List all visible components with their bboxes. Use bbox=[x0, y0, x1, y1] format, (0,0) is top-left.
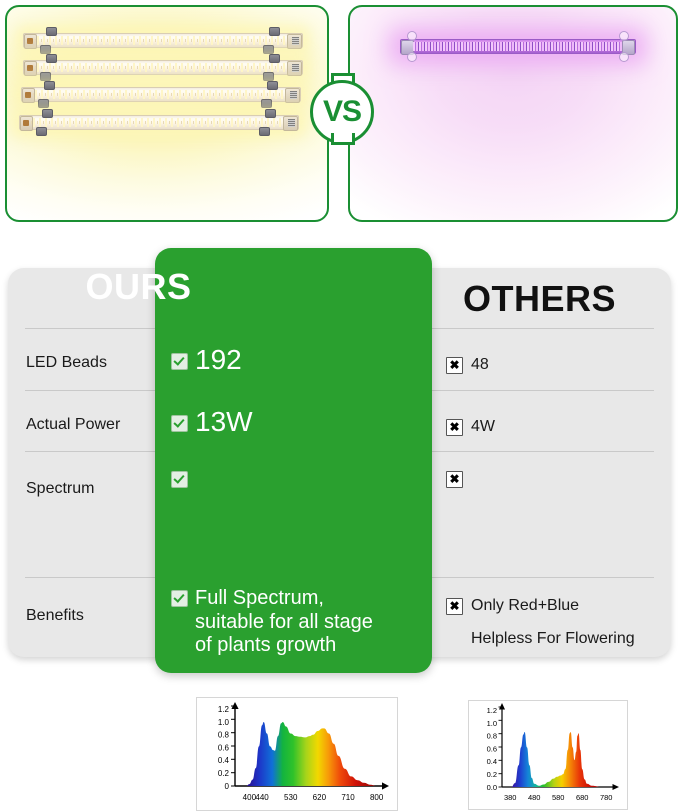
mounting-bracket bbox=[265, 109, 276, 118]
strip-end-cap-right bbox=[285, 88, 300, 103]
led-strip bbox=[21, 87, 301, 102]
svg-text:0.4: 0.4 bbox=[218, 756, 230, 765]
spectrum-chart-ours: 00.20.40.60.81.01.2 400440530620710800 bbox=[196, 697, 398, 811]
mounting-bracket bbox=[263, 72, 274, 81]
svg-text:530: 530 bbox=[284, 793, 298, 802]
mounting-bracket bbox=[44, 81, 55, 90]
svg-text:800: 800 bbox=[370, 793, 384, 802]
row-separator bbox=[432, 390, 654, 391]
led-strip bbox=[19, 115, 299, 130]
svg-text:780: 780 bbox=[600, 793, 613, 802]
strip-end-cap-right bbox=[287, 61, 302, 76]
check-icon bbox=[171, 415, 188, 432]
row-label-actual-power: Actual Power bbox=[26, 416, 120, 434]
product-comparison-hero: VS bbox=[0, 0, 679, 228]
mounting-bracket bbox=[261, 99, 272, 108]
led-strip bbox=[23, 60, 303, 75]
others-benefit-line-1: Only Red+Blue bbox=[471, 594, 635, 619]
mounting-bracket bbox=[42, 109, 53, 118]
mounting-bracket bbox=[46, 54, 57, 63]
ours-value-led-beads: 192 bbox=[171, 346, 242, 375]
row-label-benefits: Benefits bbox=[26, 607, 84, 625]
mounting-bracket bbox=[259, 127, 270, 136]
svg-text:0.2: 0.2 bbox=[218, 769, 230, 778]
spectrum-chart-ours-svg: 00.20.40.60.81.01.2 400440530620710800 bbox=[197, 698, 397, 810]
svg-text:1.0: 1.0 bbox=[487, 719, 497, 728]
row-separator bbox=[25, 328, 155, 329]
warm-white-led-panel bbox=[5, 5, 329, 222]
spectrum-chart-others: 0.00.20.40.60.81.01.2 380480580680780 bbox=[468, 700, 628, 810]
row-label-led-beads: LED Beads bbox=[26, 354, 107, 372]
ours-value-actual-power: 13W bbox=[171, 408, 253, 437]
mounting-bracket bbox=[269, 27, 280, 36]
x-icon: ✖ bbox=[446, 357, 463, 374]
row-separator bbox=[432, 577, 654, 578]
svg-text:1.2: 1.2 bbox=[218, 705, 230, 714]
ours-benefit-line-2: suitable for all stage bbox=[195, 611, 373, 635]
x-icon: ✖ bbox=[446, 419, 463, 436]
led-beads-row bbox=[31, 118, 285, 127]
svg-text:1.0: 1.0 bbox=[218, 718, 230, 727]
ours-value-text: 13W bbox=[195, 408, 253, 437]
mounting-bracket bbox=[619, 31, 629, 41]
row-separator bbox=[432, 328, 654, 329]
spectrum-curve bbox=[511, 732, 608, 787]
led-beads-row bbox=[35, 36, 289, 45]
mounting-bracket bbox=[619, 52, 629, 62]
x-icon: ✖ bbox=[446, 471, 463, 488]
chart-y-tick-labels: 0.00.20.40.60.81.01.2 bbox=[487, 706, 497, 792]
row-separator bbox=[432, 451, 654, 452]
vs-badge-tab-bottom bbox=[331, 133, 355, 145]
chart-x-tick-labels: 380480580680780 bbox=[504, 793, 613, 802]
svg-text:0.6: 0.6 bbox=[218, 743, 230, 752]
mounting-bracket bbox=[40, 72, 51, 81]
row-separator bbox=[25, 390, 155, 391]
svg-text:0.8: 0.8 bbox=[218, 731, 230, 740]
mounting-bracket bbox=[267, 81, 278, 90]
strip-end-cap-right bbox=[287, 34, 302, 49]
ours-value-benefits: Full Spectrum, suitable for all stage of… bbox=[171, 587, 373, 658]
mounting-bracket bbox=[38, 99, 49, 108]
others-value-led-beads: ✖ 48 bbox=[446, 353, 489, 378]
others-value-benefits: ✖ Only Red+Blue Helpless For Flowering bbox=[446, 594, 635, 652]
mounting-bracket bbox=[46, 27, 57, 36]
check-icon bbox=[171, 353, 188, 370]
x-icon: ✖ bbox=[446, 598, 463, 615]
column-header-others: OTHERS bbox=[463, 278, 679, 320]
strip-end-cap-right bbox=[283, 116, 298, 131]
mounting-bracket bbox=[40, 45, 51, 54]
svg-text:0.0: 0.0 bbox=[487, 783, 497, 792]
chart-y-tick-labels: 00.20.40.60.81.01.2 bbox=[218, 705, 230, 791]
check-icon bbox=[171, 471, 188, 488]
led-strip bbox=[23, 33, 303, 48]
svg-text:0.4: 0.4 bbox=[487, 757, 497, 766]
ours-benefit-line-3: of plants growth bbox=[195, 634, 373, 658]
mounting-bracket bbox=[269, 54, 280, 63]
row-separator bbox=[25, 451, 155, 452]
led-beads-row bbox=[35, 63, 289, 72]
check-icon bbox=[171, 590, 188, 607]
spectrum-curve bbox=[246, 722, 376, 786]
spectrum-chart-others-svg: 0.00.20.40.60.81.01.2 380480580680780 bbox=[469, 701, 627, 809]
ours-value-spectrum-mark bbox=[171, 464, 195, 488]
row-separator bbox=[25, 577, 155, 578]
svg-text:620: 620 bbox=[313, 793, 327, 802]
comparison-table: OURS OTHERS LED Beads 192 ✖ 48 Actual Po… bbox=[0, 236, 679, 690]
led-strip-purple bbox=[400, 39, 636, 54]
ours-benefit-line-1: Full Spectrum, bbox=[195, 587, 373, 611]
svg-text:0.8: 0.8 bbox=[487, 732, 497, 741]
led-beads-row-purple bbox=[413, 42, 623, 51]
svg-text:480: 480 bbox=[528, 793, 541, 802]
vs-badge: VS bbox=[310, 80, 372, 142]
others-value-text: 4W bbox=[471, 415, 495, 440]
svg-text:710: 710 bbox=[341, 793, 355, 802]
svg-text:380: 380 bbox=[504, 793, 517, 802]
svg-text:680: 680 bbox=[576, 793, 589, 802]
others-value-actual-power: ✖ 4W bbox=[446, 415, 495, 440]
purple-led-panel bbox=[348, 5, 678, 222]
ours-value-text: 192 bbox=[195, 346, 242, 375]
others-value-spectrum-mark: ✖ bbox=[446, 467, 471, 488]
mounting-bracket bbox=[36, 127, 47, 136]
chart-x-tick-labels: 400440530620710800 bbox=[243, 793, 384, 802]
svg-text:580: 580 bbox=[552, 793, 565, 802]
svg-text:440: 440 bbox=[255, 793, 269, 802]
others-benefit-line-2: Helpless For Flowering bbox=[471, 627, 635, 652]
svg-text:0.2: 0.2 bbox=[487, 770, 497, 779]
mounting-bracket bbox=[263, 45, 274, 54]
svg-text:1.2: 1.2 bbox=[487, 706, 497, 715]
svg-text:0: 0 bbox=[225, 782, 230, 791]
mounting-bracket bbox=[407, 31, 417, 41]
others-value-text: 48 bbox=[471, 353, 489, 378]
svg-text:0.6: 0.6 bbox=[487, 744, 497, 753]
row-label-spectrum: Spectrum bbox=[26, 480, 94, 498]
vs-badge-label: VS bbox=[323, 95, 361, 129]
led-beads-row bbox=[33, 90, 287, 99]
mounting-bracket bbox=[407, 52, 417, 62]
column-header-ours: OURS bbox=[0, 266, 277, 308]
